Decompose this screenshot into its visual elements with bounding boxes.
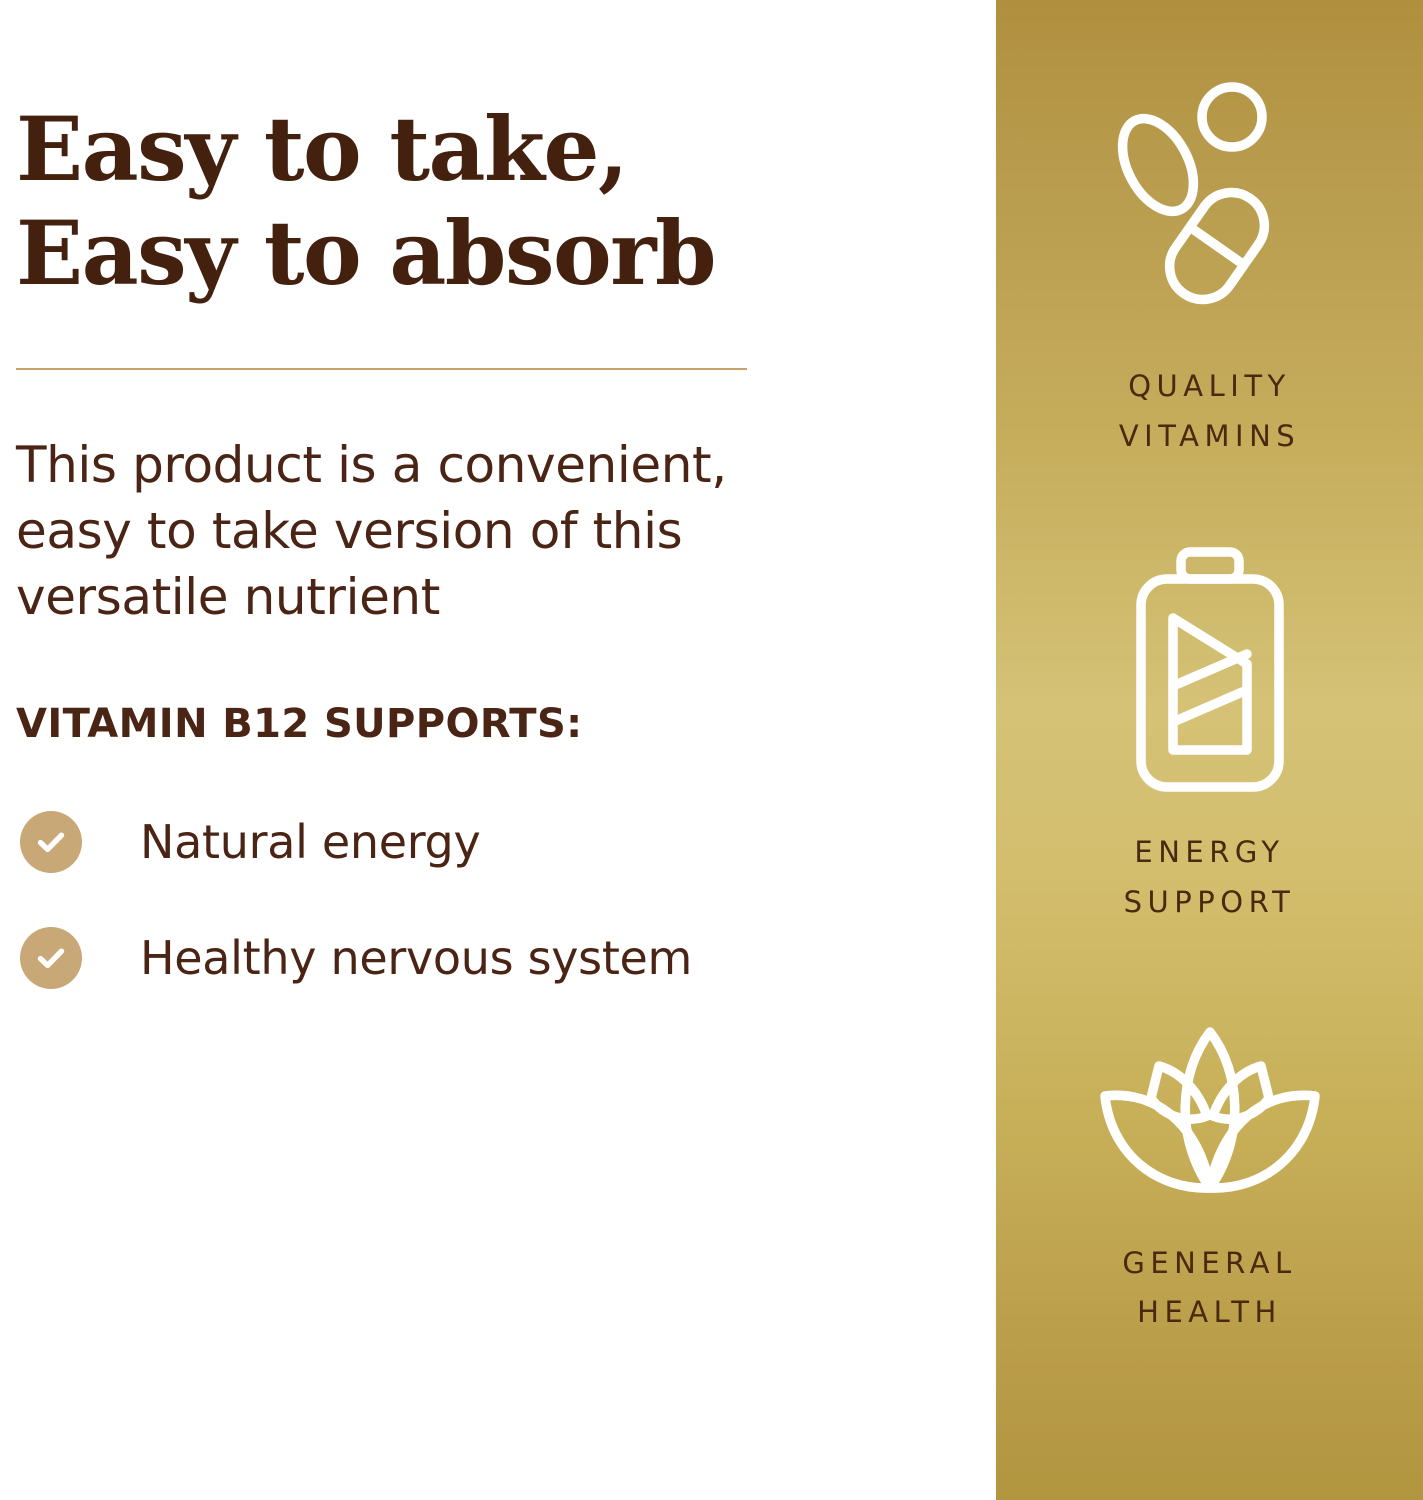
feature-label: GENERAL HEALTH: [1122, 1239, 1296, 1339]
feature-label-line-1: ENERGY: [1124, 828, 1296, 878]
check-icon: [20, 927, 82, 989]
body-line-2: easy to take version of this: [16, 498, 996, 564]
headline-line-2: Easy to absorb: [16, 202, 996, 306]
feature-label: ENERGY SUPPORT: [1124, 828, 1296, 928]
gold-feature-sidebar: QUALITY VITAMINS: [996, 0, 1423, 1500]
feature-general-health: GENERAL HEALTH: [996, 1020, 1423, 1339]
list-item: Healthy nervous system: [16, 912, 996, 1004]
pills-icon: [1100, 78, 1320, 328]
left-content-pane: Easy to take, Easy to absorb This produc…: [0, 0, 996, 1500]
body-line-3: versatile nutrient: [16, 564, 996, 630]
product-feature-panel: Easy to take, Easy to absorb This produc…: [0, 0, 1423, 1500]
benefit-list: Natural energy Healthy nervous system: [16, 744, 996, 1004]
check-icon: [20, 811, 82, 873]
battery-icon: [1125, 546, 1295, 794]
feature-energy-support: ENERGY SUPPORT: [996, 546, 1423, 928]
headline-line-1: Easy to take,: [16, 98, 996, 202]
lotus-icon: [1095, 1020, 1325, 1205]
benefit-label: Natural energy: [140, 815, 480, 869]
feature-label: QUALITY VITAMINS: [1119, 362, 1300, 462]
feature-label-line-1: GENERAL: [1122, 1239, 1296, 1289]
supports-heading: VITAMIN B12 SUPPORTS:: [16, 630, 996, 744]
page-headline: Easy to take, Easy to absorb: [16, 0, 996, 306]
feature-label-line-2: SUPPORT: [1124, 878, 1296, 928]
feature-label-line-2: VITAMINS: [1119, 412, 1300, 462]
body-line-1: This product is a convenient,: [16, 432, 996, 498]
list-item: Natural energy: [16, 796, 996, 888]
feature-label-line-1: QUALITY: [1119, 362, 1300, 412]
benefit-label: Healthy nervous system: [140, 931, 692, 985]
feature-quality-vitamins: QUALITY VITAMINS: [996, 78, 1423, 462]
body-description: This product is a convenient, easy to ta…: [16, 370, 996, 630]
feature-label-line-2: HEALTH: [1122, 1288, 1296, 1338]
